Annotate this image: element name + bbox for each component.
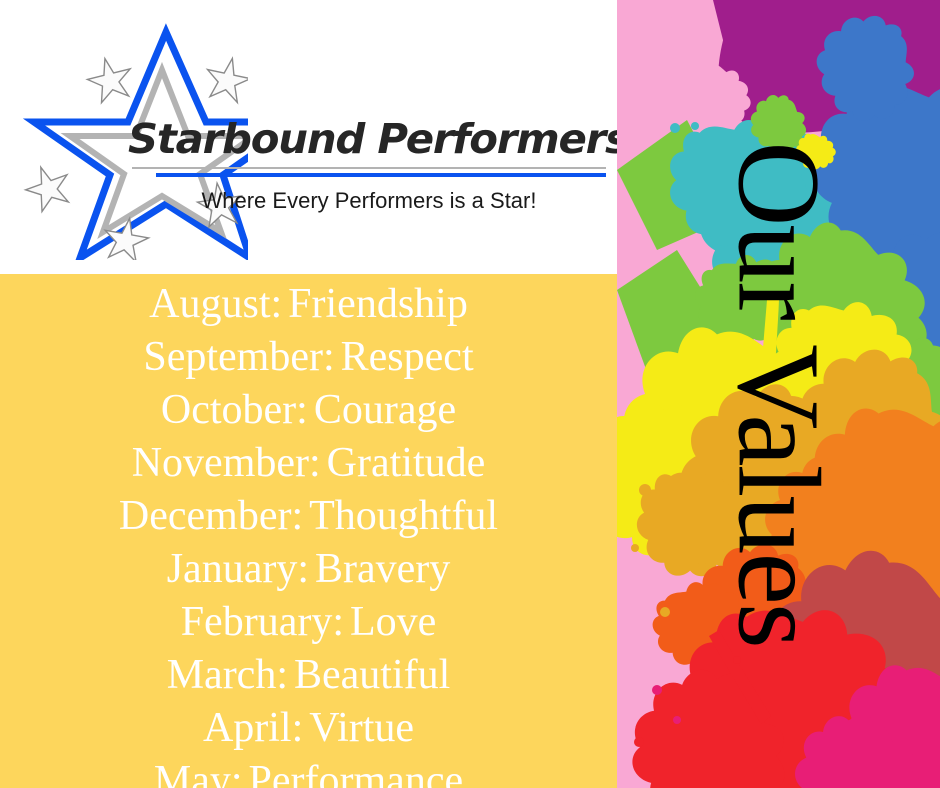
value-row: April:Virtue xyxy=(0,702,617,755)
brand-rule-gray xyxy=(132,167,606,169)
value-month: March: xyxy=(167,652,288,698)
brand-tagline: Where Every Performers is a Star! xyxy=(128,188,610,214)
value-month: August: xyxy=(149,281,282,327)
value-row: February:Love xyxy=(0,596,617,649)
value-row: November:Gratitude xyxy=(0,437,617,490)
value-month: November: xyxy=(132,440,321,486)
value-row: May:Performance xyxy=(0,755,617,788)
value-row: December:Thoughtful xyxy=(0,490,617,543)
poster-canvas: Starbound Performers Where Every Perform… xyxy=(0,0,940,788)
value-word: Friendship xyxy=(282,281,468,327)
value-word: Respect xyxy=(335,334,474,380)
logo-panel: Starbound Performers Where Every Perform… xyxy=(0,0,617,274)
value-word: Gratitude xyxy=(321,440,486,486)
value-month: October: xyxy=(161,387,308,433)
brand-rule-blue xyxy=(156,173,606,177)
value-word: Virtue xyxy=(303,705,414,751)
values-list: August:FriendshipSeptember:RespectOctobe… xyxy=(0,274,617,788)
paint-splatter-panel xyxy=(617,0,940,788)
value-month: April: xyxy=(203,705,303,751)
value-row: September:Respect xyxy=(0,331,617,384)
brand-name: Starbound Performers xyxy=(128,116,620,162)
value-row: August:Friendship xyxy=(0,278,617,331)
value-month: May: xyxy=(154,758,243,788)
value-month: September: xyxy=(143,334,334,380)
value-word: Performance xyxy=(243,758,464,788)
value-month: December: xyxy=(119,493,303,539)
value-word: Thoughtful xyxy=(303,493,498,539)
value-row: October:Courage xyxy=(0,384,617,437)
value-month: January: xyxy=(167,546,309,592)
left-column: Starbound Performers Where Every Perform… xyxy=(0,0,617,788)
brand-block: Starbound Performers Where Every Perform… xyxy=(128,116,610,216)
value-word: Love xyxy=(344,599,436,645)
value-month: February: xyxy=(181,599,344,645)
value-word: Courage xyxy=(308,387,456,433)
value-word: Bravery xyxy=(309,546,450,592)
value-word: Beautiful xyxy=(288,652,450,698)
value-row: March:Beautiful xyxy=(0,649,617,702)
value-row: January:Bravery xyxy=(0,543,617,596)
